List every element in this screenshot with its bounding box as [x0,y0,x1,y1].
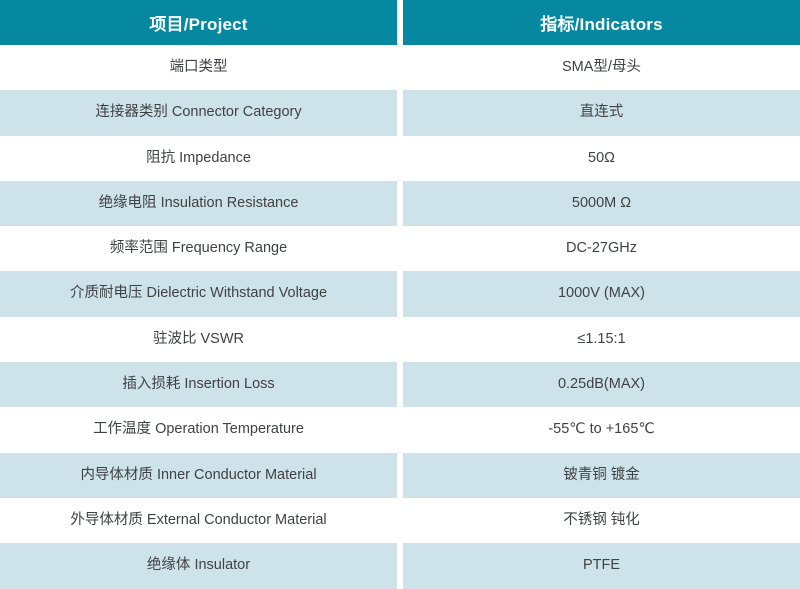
table-row: 插入损耗 Insertion Loss0.25dB(MAX) [0,362,800,407]
cell-project: 介质耐电压 Dielectric Withstand Voltage [0,271,397,316]
table-row: 驻波比 VSWR≤1.15:1 [0,317,800,362]
cell-project: 绝缘体 Insulator [0,543,397,588]
cell-indicator: 直连式 [403,90,800,135]
table-row: 内导体材质 Inner Conductor Material铍青铜 镀金 [0,453,800,498]
table-row: 工作温度 Operation Temperature-55℃ to +165℃ [0,407,800,452]
cell-indicator: ≤1.15:1 [403,317,800,362]
cell-indicator: PTFE [403,543,800,588]
cell-indicator: 5000M Ω [403,181,800,226]
cell-project: 工作温度 Operation Temperature [0,407,397,452]
column-header-indicators: 指标/Indicators [403,0,800,45]
table-row: 绝缘体 InsulatorPTFE [0,543,800,588]
cell-indicator: SMA型/母头 [403,45,800,90]
cell-project: 连接器类别 Connector Category [0,90,397,135]
cell-indicator: 50Ω [403,136,800,181]
column-header-project: 项目/Project [0,0,397,45]
cell-indicator: 0.25dB(MAX) [403,362,800,407]
table-row: 端口类型SMA型/母头 [0,45,800,90]
cell-project: 插入损耗 Insertion Loss [0,362,397,407]
table-row: 阻抗 Impedance50Ω [0,136,800,181]
table-row: 频率范围 Frequency RangeDC-27GHz [0,226,800,271]
table-body: 端口类型SMA型/母头连接器类别 Connector Category直连式阻抗… [0,45,800,589]
cell-indicator: 铍青铜 镀金 [403,453,800,498]
cell-project: 频率范围 Frequency Range [0,226,397,271]
table-row: 介质耐电压 Dielectric Withstand Voltage1000V … [0,271,800,316]
cell-indicator: -55℃ to +165℃ [403,407,800,452]
table-row: 绝缘电阻 Insulation Resistance5000M Ω [0,181,800,226]
specification-table: 项目/Project 指标/Indicators 端口类型SMA型/母头连接器类… [0,0,800,588]
table-row: 连接器类别 Connector Category直连式 [0,90,800,135]
cell-project: 驻波比 VSWR [0,317,397,362]
cell-project: 阻抗 Impedance [0,136,397,181]
cell-indicator: DC-27GHz [403,226,800,271]
cell-indicator: 1000V (MAX) [403,271,800,316]
table-row: 外导体材质 External Conductor Material不锈钢 钝化 [0,498,800,543]
table-header-row: 项目/Project 指标/Indicators [0,0,800,45]
cell-project: 外导体材质 External Conductor Material [0,498,397,543]
cell-indicator: 不锈钢 钝化 [403,498,800,543]
cell-project: 内导体材质 Inner Conductor Material [0,453,397,498]
cell-project: 端口类型 [0,45,397,90]
cell-project: 绝缘电阻 Insulation Resistance [0,181,397,226]
